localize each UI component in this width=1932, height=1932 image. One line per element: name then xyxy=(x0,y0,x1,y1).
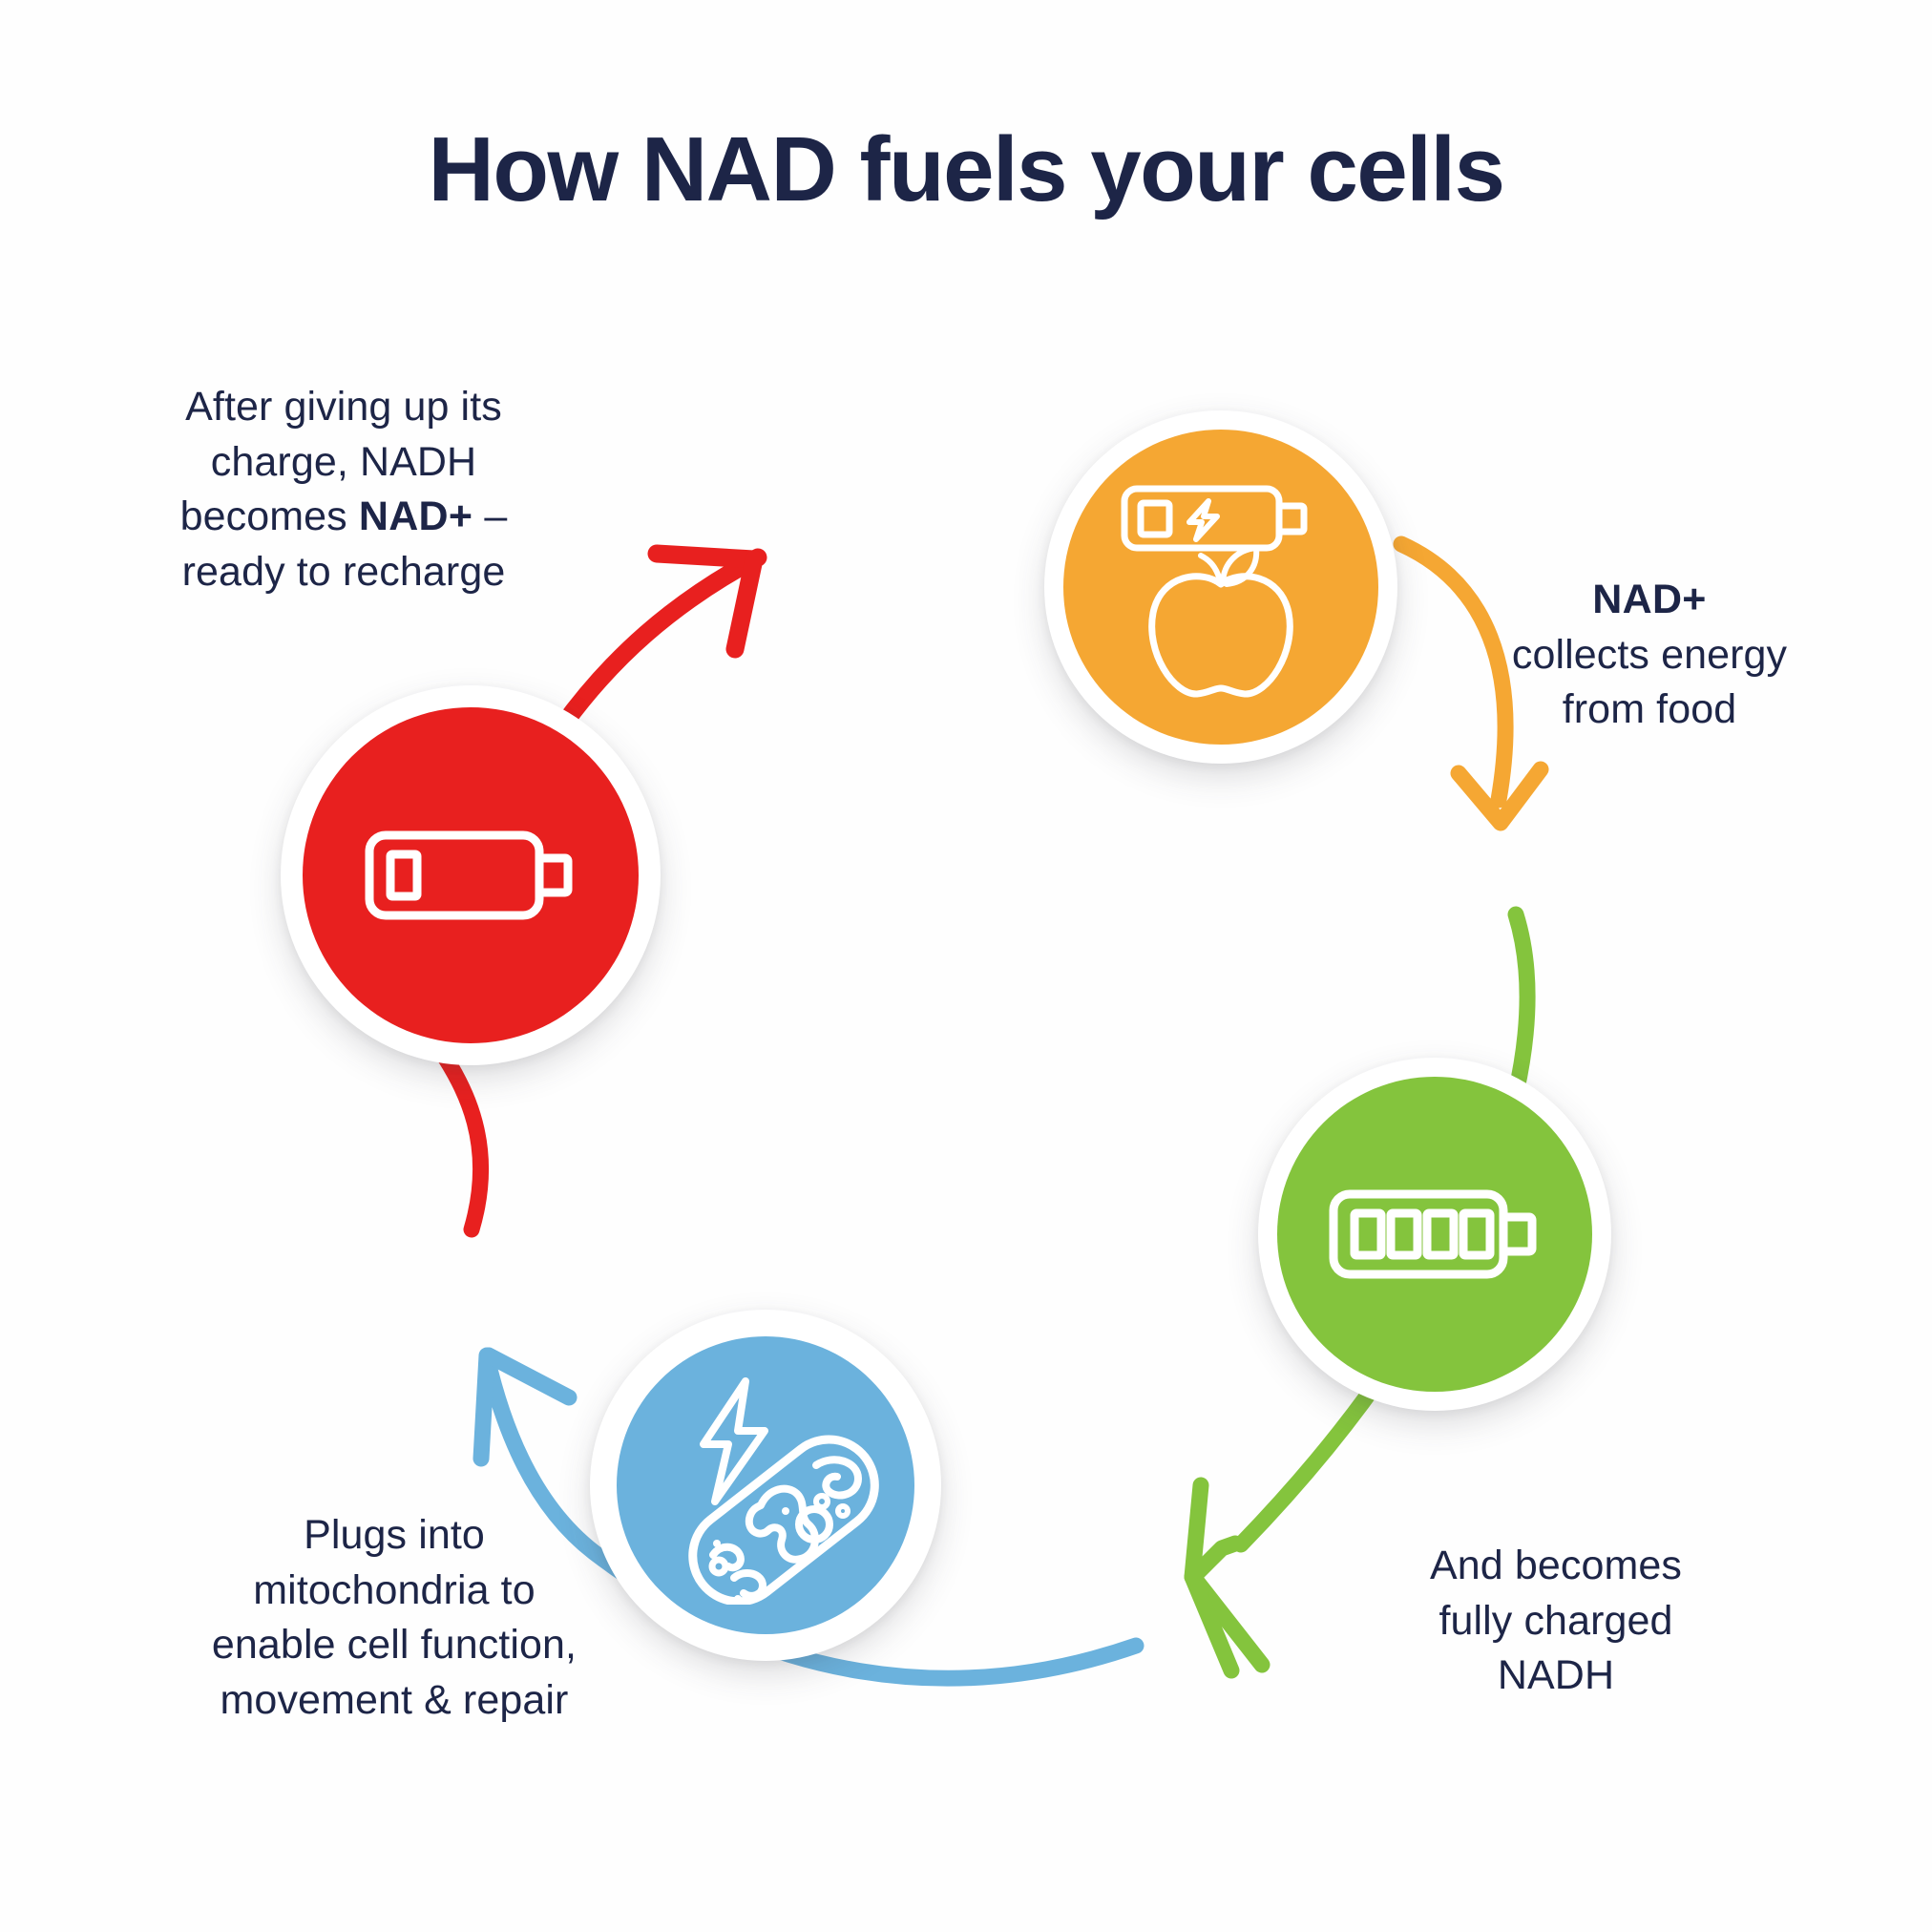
node-nadh-charged[interactable] xyxy=(1258,1058,1611,1411)
caption-mitochondria: Plugs intomitochondria toenable cell fun… xyxy=(170,1508,619,1728)
node-mitochondria[interactable] xyxy=(590,1310,941,1661)
caption-nadh-charged: And becomesfully chargedNADH xyxy=(1365,1539,1747,1704)
node-orange-disc xyxy=(1063,430,1378,745)
caption-nad-depleted: After giving up itscharge, NADHbecomes N… xyxy=(124,380,563,599)
node-nad-depleted[interactable] xyxy=(281,685,661,1065)
battery-full-icon xyxy=(1328,1177,1542,1291)
infographic-canvas: How NAD fuels your cells xyxy=(0,0,1932,1932)
node-blue-disc xyxy=(617,1336,914,1634)
node-red-disc xyxy=(303,707,639,1043)
node-nad-plus[interactable] xyxy=(1044,410,1397,764)
caption-nad-plus: NAD+collects energyfrom food xyxy=(1459,573,1840,738)
page-title: How NAD fuels your cells xyxy=(0,120,1932,220)
battery-charging-with-apple-icon xyxy=(1102,468,1340,706)
node-green-disc xyxy=(1277,1077,1592,1392)
battery-low-icon xyxy=(364,818,577,933)
mitochondria-with-lightning-icon xyxy=(646,1366,885,1605)
